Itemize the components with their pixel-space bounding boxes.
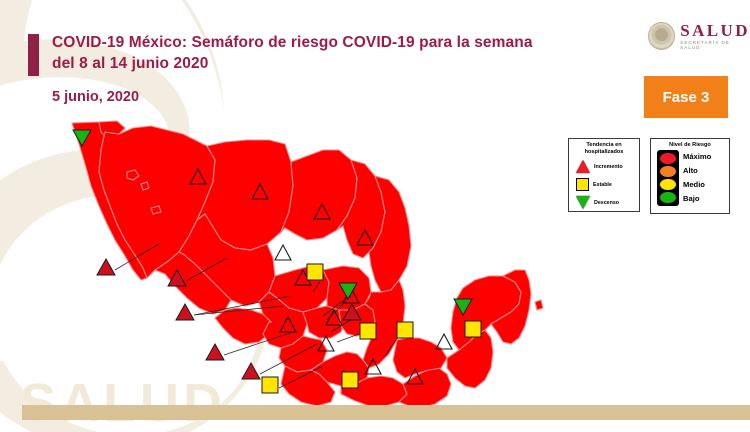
risk-label-maximo: Máximo <box>683 153 711 161</box>
legend-label-descenso: Descenso <box>594 200 619 206</box>
page-title: COVID-19 México: Semáforo de riesgo COVI… <box>52 33 552 74</box>
marker-square <box>262 377 278 393</box>
page-date: 5 junio, 2020 <box>52 89 139 105</box>
marker-square <box>465 321 481 337</box>
marker-triangle-up <box>206 344 224 360</box>
marker-triangle-up <box>97 259 115 275</box>
lamp-alto <box>660 166 676 178</box>
lamp-bajo <box>660 192 676 204</box>
marker-triangle-up <box>176 304 194 320</box>
marker-square <box>360 323 376 339</box>
legend-item-estable: Estable <box>572 176 636 194</box>
legend-label-incremento: Incremento <box>594 164 623 170</box>
phase-badge: Fase 3 <box>644 76 728 118</box>
mexico-risk-map <box>55 120 575 410</box>
square-icon <box>576 178 589 191</box>
lamp-medio <box>660 179 676 191</box>
risk-label-alto: Alto <box>683 167 711 175</box>
marker-square <box>397 322 413 338</box>
legend-trend-title: Tendencia en hospitalizados <box>572 142 636 156</box>
traffic-light-icon <box>657 150 679 206</box>
legend-item-descenso: Descenso <box>572 194 636 212</box>
marker-square <box>307 264 323 280</box>
lamp-maximo <box>660 153 676 165</box>
legend-risk: Nivel de Riesgo Máximo Alto Medio Bajo <box>650 138 730 214</box>
title-accent-bar <box>28 34 39 76</box>
marker-triangle-outline <box>275 245 291 260</box>
logo-wordmark: SALUD <box>680 22 750 39</box>
slide-canvas: SALUD COVID-19 México: Semáforo de riesg… <box>0 0 750 432</box>
legend-trend: Tendencia en hospitalizados Incremento E… <box>568 138 640 212</box>
triangle-up-icon <box>576 160 590 173</box>
legend-item-incremento: Incremento <box>572 158 636 176</box>
logo-subtitle: SECRETARÍA DE SALUD <box>680 41 750 50</box>
salud-logo: SALUD SECRETARÍA DE SALUD <box>648 22 750 50</box>
marker-square <box>342 372 358 388</box>
legend-label-estable: Estable <box>593 182 612 188</box>
marker-triangle-up <box>242 363 260 379</box>
mexico-coat-of-arms-icon <box>648 22 675 50</box>
risk-label-bajo: Bajo <box>683 195 711 203</box>
footer-bar <box>22 405 750 420</box>
triangle-down-icon <box>576 196 590 209</box>
legend-risk-title: Nivel de Riesgo <box>654 142 726 148</box>
risk-label-medio: Medio <box>683 181 711 189</box>
